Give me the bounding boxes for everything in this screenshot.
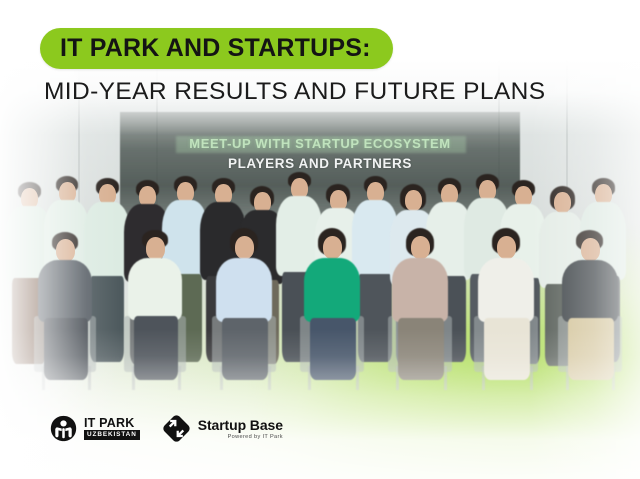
it-park-wordmark: IT PARK UZBEKISTAN — [84, 417, 140, 440]
it-park-logo: IT PARK UZBEKISTAN — [50, 415, 140, 442]
startup-base-logo: Startup Base Powered by IT Park — [162, 414, 283, 443]
group-photo: MEET-UP WITH STARTUP ECOSYSTEM PLAYERS A… — [0, 0, 640, 479]
it-park-country: UZBEKISTAN — [84, 430, 140, 440]
startup-base-name: Startup Base — [198, 417, 283, 433]
title-badge: IT PARK AND STARTUPS: — [40, 28, 393, 69]
it-park-name: IT PARK — [84, 417, 134, 430]
startup-base-wordmark: Startup Base Powered by IT Park — [198, 417, 283, 441]
subtitle: MID-YEAR RESULTS AND FUTURE PLANS — [44, 78, 545, 106]
presentation-slide: MEET-UP WITH STARTUP ECOSYSTEM PLAYERS A… — [0, 0, 640, 479]
it-park-person-icon — [50, 415, 77, 442]
photo-fade-right — [530, 0, 640, 479]
footer-logos: IT PARK UZBEKISTAN Startup Base Powered … — [50, 414, 283, 443]
title-badge-label: IT PARK AND STARTUPS: — [60, 34, 371, 63]
startup-base-tagline: Powered by IT Park — [228, 434, 283, 441]
startup-base-arrow-icon — [162, 414, 191, 443]
photo-fade-left — [0, 0, 120, 479]
